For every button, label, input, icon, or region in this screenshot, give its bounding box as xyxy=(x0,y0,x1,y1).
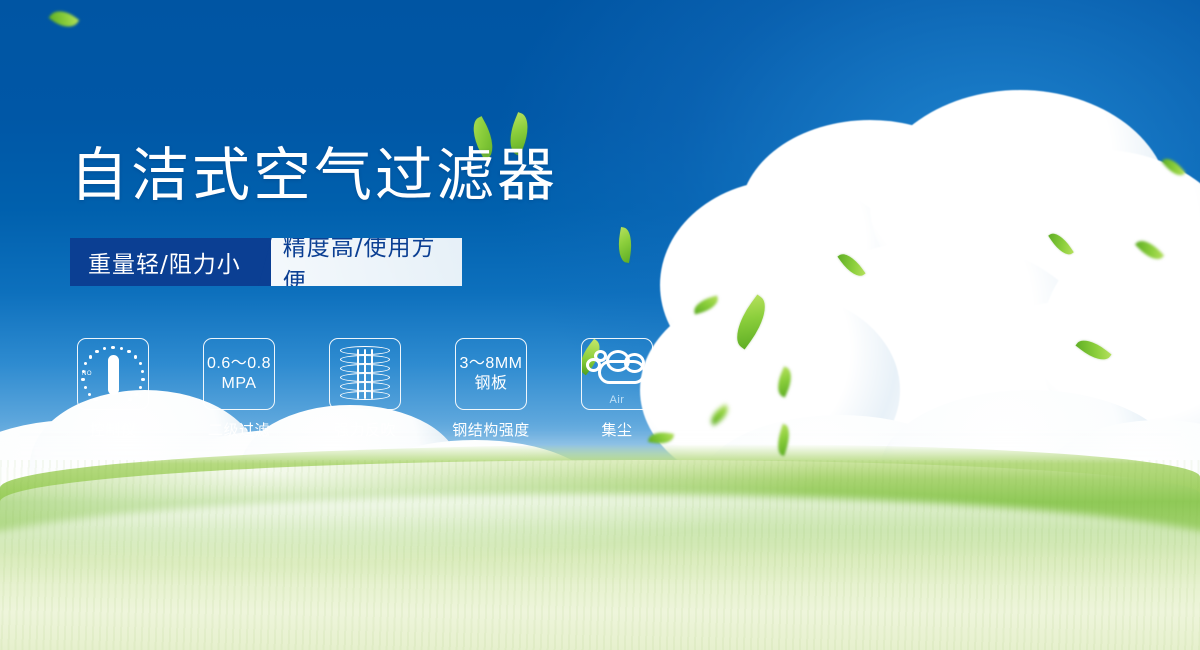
feature-strong-backblow-box xyxy=(329,338,401,410)
feature-dust-collection-label: 集尘 xyxy=(573,419,661,440)
feature-two-stage-filter[interactable]: 0.6～0.8 MPA 二级过滤 xyxy=(203,338,275,440)
feature-controller[interactable]: NO OFF 控制仪 xyxy=(77,338,149,440)
product-hero-banner: 自洁式空气过滤器 重量轻/阻力小 精度高/使用方便 xyxy=(0,0,1200,650)
air-label: Air xyxy=(586,394,648,406)
steel-thickness: 3～8MM xyxy=(460,354,523,374)
pressure-value-icon: 0.6～0.8 MPA xyxy=(207,354,271,394)
feature-steel-strength[interactable]: 3～8MM 钢板 钢结构强度 xyxy=(455,338,527,440)
gauge-on-label: NO xyxy=(82,371,92,377)
feature-list: NO OFF 控制仪 0.6～0.8 MPA 二级过滤 xyxy=(77,338,653,440)
grass-texture xyxy=(0,460,1200,650)
feature-steel-strength-box: 3～8MM 钢板 xyxy=(455,338,527,410)
page-title: 自洁式空气过滤器 xyxy=(70,142,558,208)
gauge-needle xyxy=(108,355,119,395)
feature-controller-label: 控制仪 xyxy=(69,419,157,440)
pressure-unit: MPA xyxy=(207,374,271,394)
feature-steel-strength-label: 钢结构强度 xyxy=(447,419,535,440)
steel-plate-word: 钢板 xyxy=(460,374,523,394)
cloud-body-icon xyxy=(598,360,646,384)
stacked-filter-rings-icon xyxy=(340,346,390,402)
subtitle-right-segment: 精度高/使用方便 xyxy=(249,238,462,286)
feature-two-stage-filter-box: 0.6～0.8 MPA xyxy=(203,338,275,410)
subtitle-left-segment: 重量轻/阻力小 xyxy=(70,238,271,286)
air-cloud-icon: Air xyxy=(586,346,648,402)
feature-two-stage-filter-label: 二级过滤 xyxy=(195,419,283,440)
gauge-dial-icon: NO OFF xyxy=(83,345,143,403)
subtitle-bar: 重量轻/阻力小 精度高/使用方便 xyxy=(70,238,462,286)
feature-strong-backblow[interactable]: 强力反吹 xyxy=(329,338,401,440)
feature-dust-collection-box: Air xyxy=(581,338,653,410)
feature-controller-box: NO OFF xyxy=(77,338,149,410)
steel-plate-value-icon: 3～8MM 钢板 xyxy=(460,354,523,394)
feature-dust-collection[interactable]: Air 集尘 xyxy=(581,338,653,440)
feature-strong-backblow-label: 强力反吹 xyxy=(321,419,409,440)
pressure-range: 0.6～0.8 xyxy=(207,354,271,374)
